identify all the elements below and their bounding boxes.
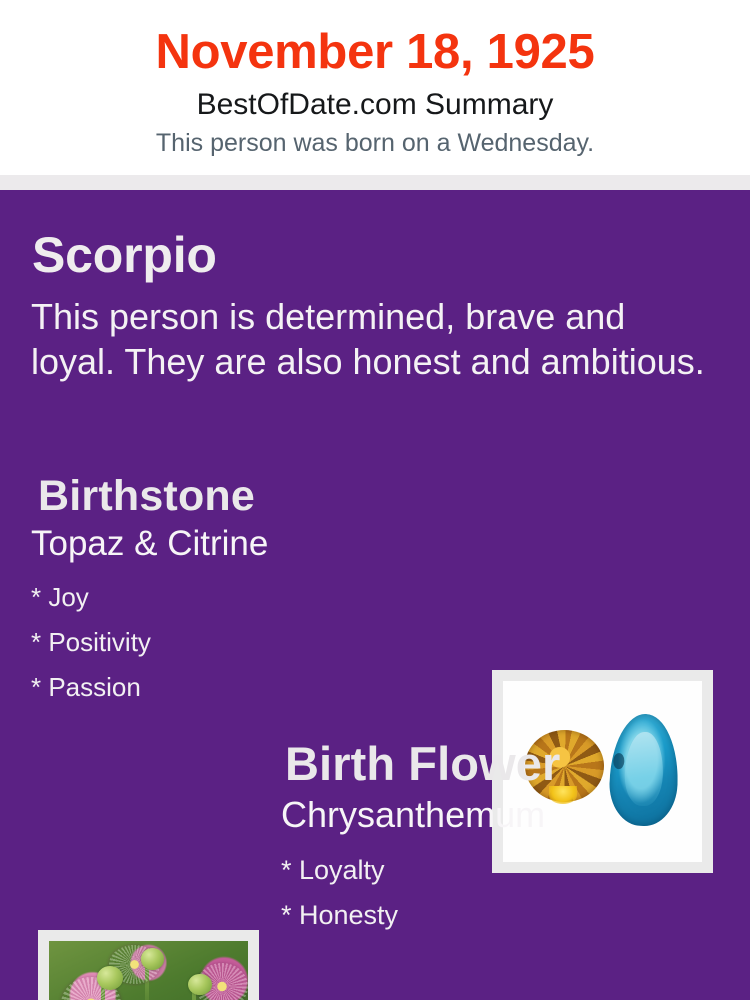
header-divider	[0, 175, 750, 190]
zodiac-sign-title: Scorpio	[32, 226, 217, 284]
birth-flower-name: Chrysanthemum	[281, 793, 545, 837]
birth-flower-trait-list: * Loyalty * Honesty	[281, 848, 661, 938]
birthstone-heading: Birthstone	[38, 471, 255, 521]
flower-bud	[97, 966, 123, 990]
details-panel: Scorpio This person is determined, brave…	[0, 190, 750, 1000]
birth-flower-heading: Birth Flower	[285, 736, 560, 791]
list-item: * Positivity	[31, 620, 451, 665]
summary-card: November 18, 1925 BestOfDate.com Summary…	[0, 0, 750, 1000]
site-summary-subtitle: BestOfDate.com Summary	[0, 87, 750, 123]
list-item: * Passion	[31, 665, 451, 710]
birthstone-trait-list: * Joy * Positivity * Passion	[31, 575, 451, 710]
birthstone-name: Topaz & Citrine	[31, 523, 268, 565]
flower-bud	[141, 948, 165, 970]
list-item: * Joy	[31, 575, 451, 620]
page-title-date: November 18, 1925	[0, 23, 750, 81]
card-header: November 18, 1925 BestOfDate.com Summary…	[0, 0, 750, 175]
topaz-gem-icon	[609, 712, 681, 827]
zodiac-description: This person is determined, brave and loy…	[31, 294, 711, 384]
list-item: * Honesty	[281, 893, 661, 938]
birth-flower-image	[49, 941, 248, 1000]
born-day-text: This person was born on a Wednesday.	[0, 128, 750, 159]
list-item: * Loyalty	[281, 848, 661, 893]
chrysanthemum-photo-canvas	[49, 941, 248, 1000]
birth-flower-image-frame	[38, 930, 259, 1000]
